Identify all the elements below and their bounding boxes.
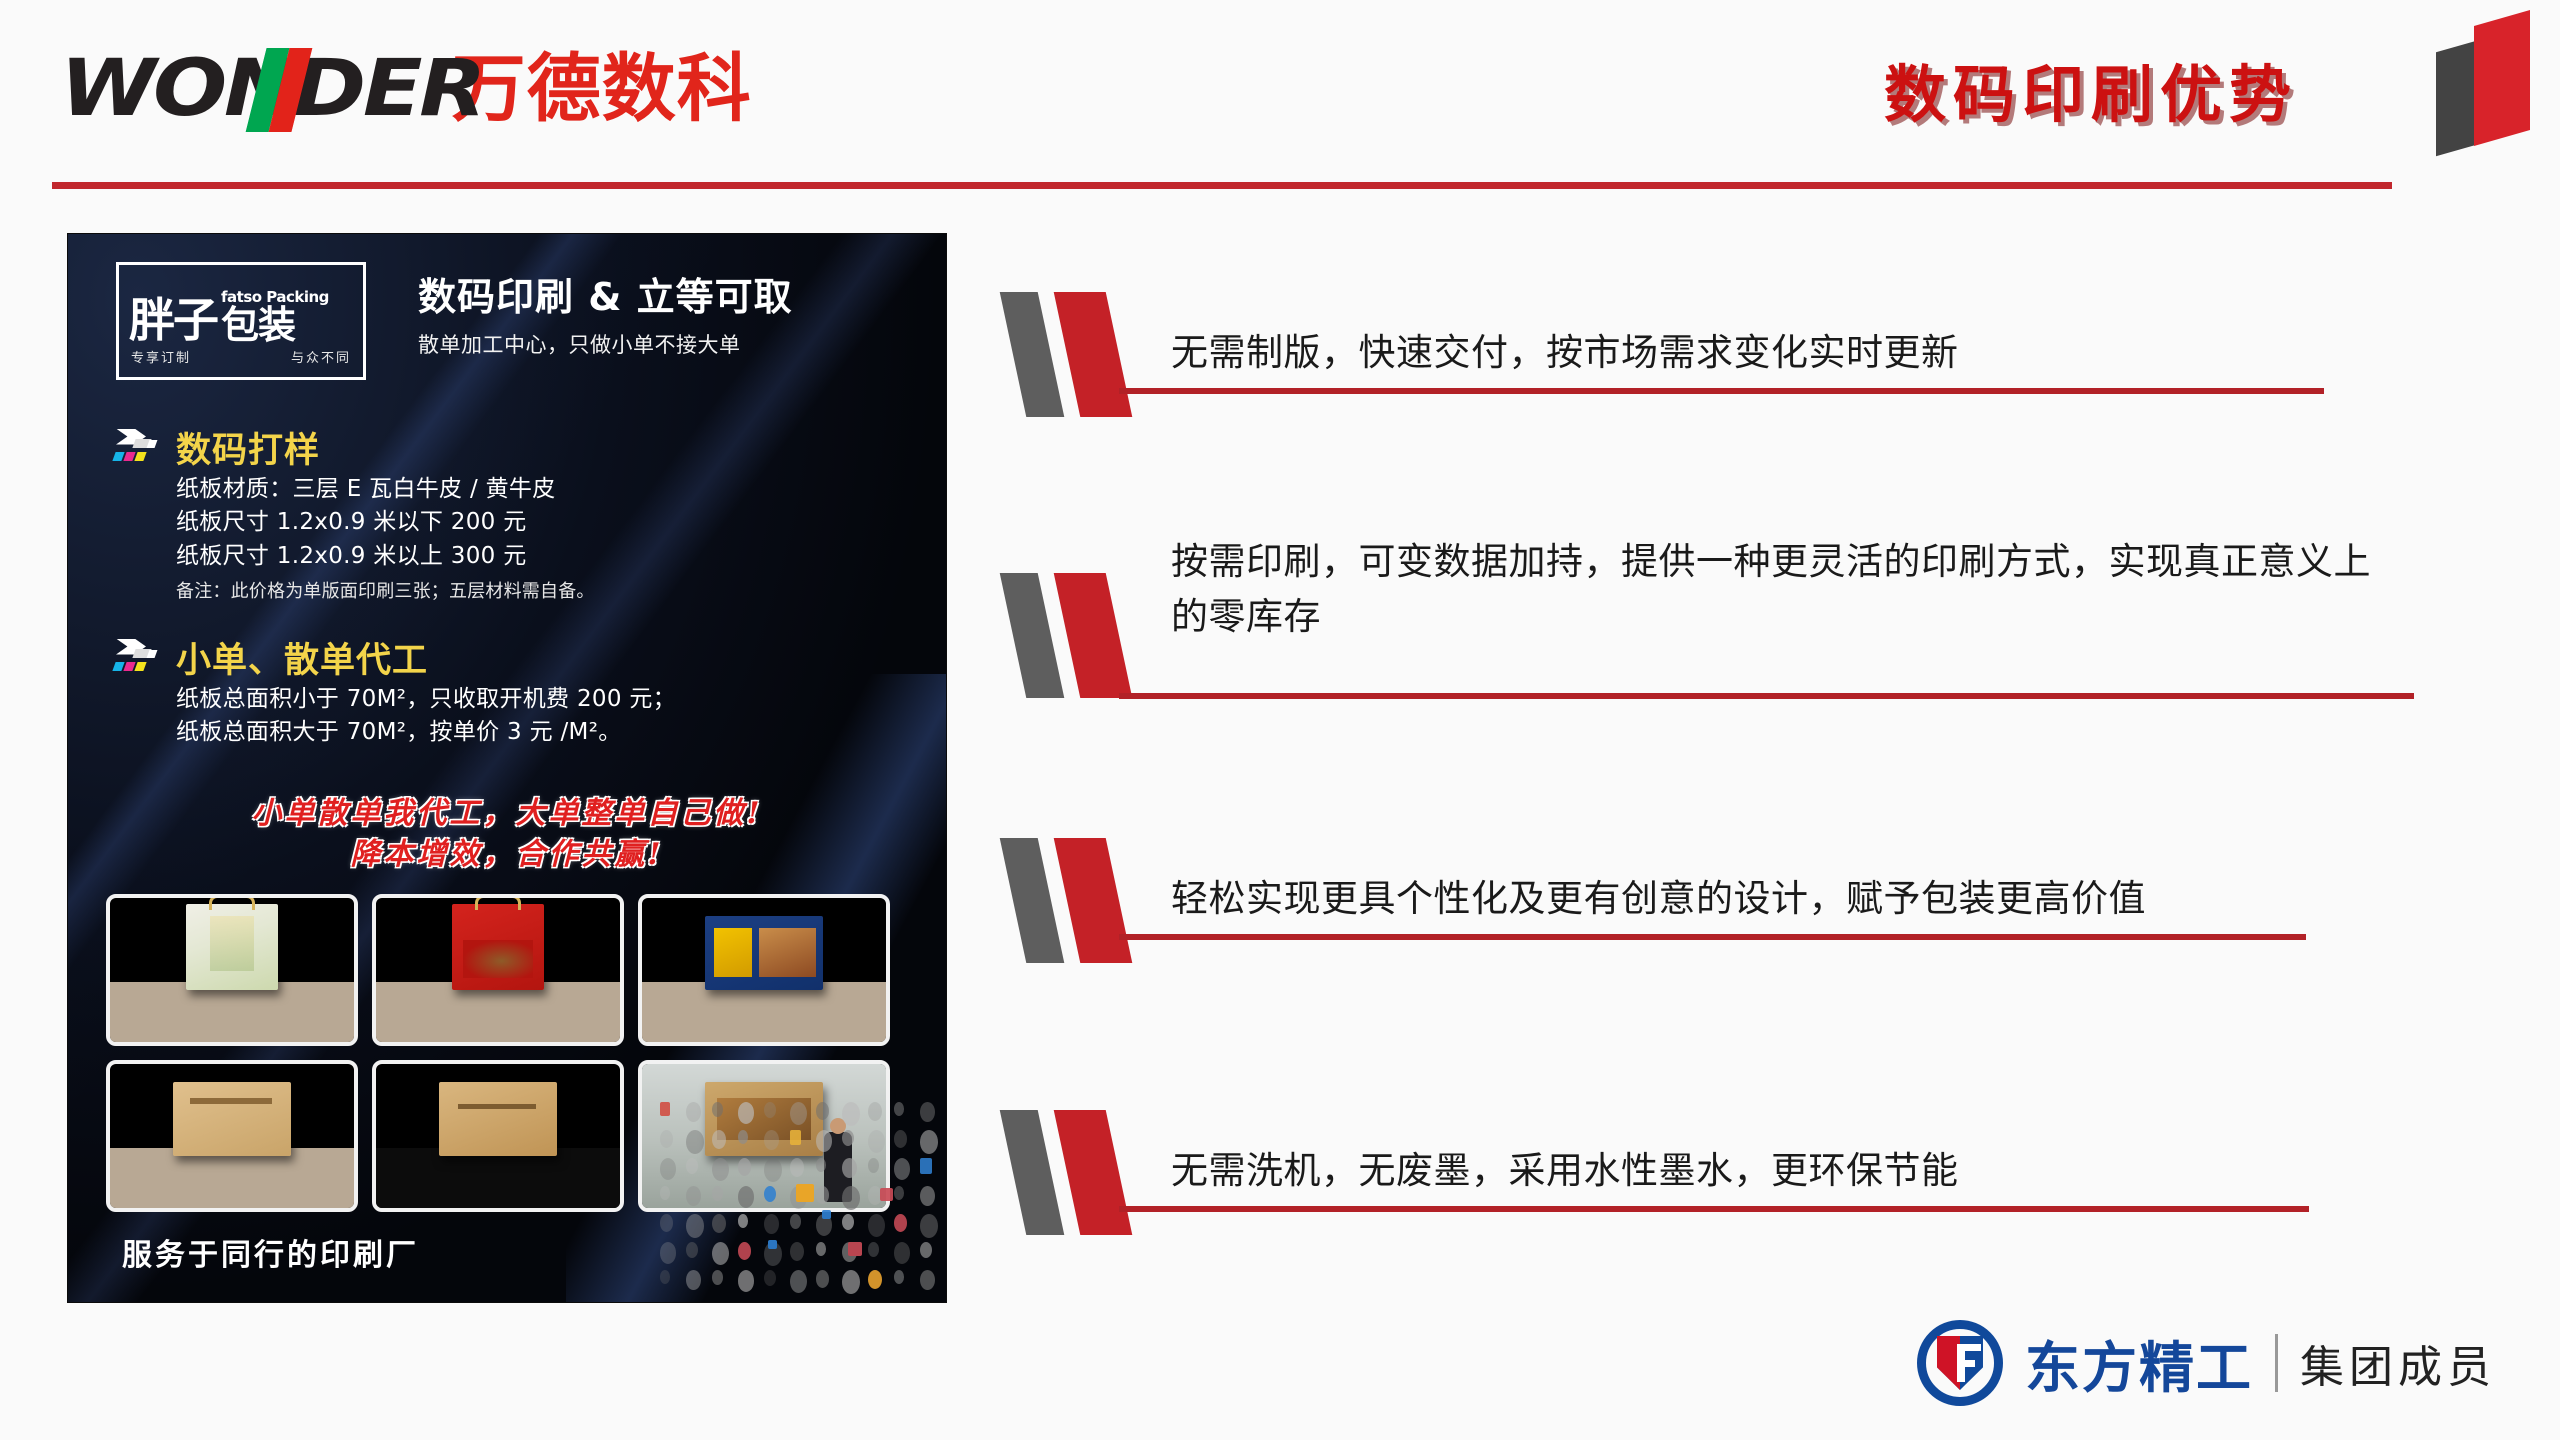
poster-logo-cn: 胖子	[129, 299, 217, 343]
poster-section-line: 纸板总面积大于 70M²，按单价 3 元 /M²。	[176, 716, 910, 749]
logo-divider	[2275, 1334, 2278, 1392]
group-company-name: 东方精工	[2025, 1323, 2253, 1403]
poster-section-line: 纸板材质：三层 E 瓦白牛皮 / 黄牛皮	[176, 473, 910, 506]
header-divider-rule	[52, 182, 2392, 189]
product-photo-red-gift	[372, 894, 624, 1046]
group-member-label: 集团成员	[2300, 1331, 2496, 1395]
bullet-text: 无需制版，快速交付，按市场需求变化实时更新	[1171, 326, 1959, 381]
poster-section-line: 纸板尺寸 1.2x0.9 米以上 300 元	[176, 540, 910, 573]
poster-logo-tag-right: 与众不同	[291, 347, 351, 366]
product-photo-classic-kraft	[372, 1060, 624, 1212]
poster-section-title: 数码打样	[176, 422, 320, 473]
poster-slogan-line: 降本增效，合作共赢!	[68, 835, 946, 876]
poster-subheadline: 散单加工中心，只做小单不接大单	[418, 329, 918, 359]
bullet-text: 轻松实现更具个性化及更有创意的设计，赋予包装更高价值	[1171, 872, 2146, 927]
advantage-bullet-4: 无需洗机，无废墨，采用水性墨水，更环保节能	[1005, 1092, 2405, 1227]
page-title: 数码印刷优势	[1884, 44, 2298, 134]
bullet-underline	[1119, 1206, 2309, 1212]
advantage-bullet-1: 无需制版，快速交付，按市场需求变化实时更新	[1005, 292, 2365, 422]
brand-logo: WONDER 万德数科	[60, 52, 752, 126]
poster-section-line: 纸板总面积小于 70M²，只收取开机费 200 元；	[176, 683, 910, 716]
poster-section-line: 纸板尺寸 1.2x0.9 米以下 200 元	[176, 506, 910, 539]
poster-section-title: 小单、散单代工	[176, 632, 428, 683]
poster-brand-logo: 胖子 fatso Packing 包装 专享订制 与众不同	[116, 262, 366, 380]
bullet-underline	[1119, 693, 2414, 699]
poster-headline-block: 数码印刷 & 立等可取 散单加工中心，只做小单不接大单	[418, 276, 918, 359]
page-header: WONDER 万德数科 数码印刷优势	[0, 0, 2560, 190]
promo-poster-image: 胖子 fatso Packing 包装 专享订制 与众不同 数码印刷 & 立等可…	[68, 234, 946, 1302]
poster-slogan: 小单散单我代工，大单整单自己做! 降本增效，合作共赢!	[68, 794, 946, 875]
bullet-text: 按需印刷，可变数据加持，提供一种更灵活的印刷方式，实现真正意义上的零库存	[1171, 535, 2386, 645]
poster-headline: 数码印刷 & 立等可取	[418, 276, 918, 319]
bullet-marker-icon	[1005, 292, 1170, 417]
poster-logo-cn2: 包装	[221, 307, 329, 343]
bullet-marker-icon	[1005, 838, 1170, 963]
bullet-text: 无需洗机，无废墨，采用水性墨水，更环保节能	[1171, 1144, 1959, 1199]
poster-section-small-orders: 小单、散单代工 纸板总面积小于 70M²，只收取开机费 200 元； 纸板总面积…	[110, 632, 910, 750]
wonder-wordmark: WONDER	[60, 54, 438, 124]
chevron-arrow-icon	[110, 637, 162, 679]
product-photo-honey	[106, 894, 358, 1046]
dongfang-shield-icon	[1917, 1320, 2003, 1406]
poster-logo-tag-left: 专享订制	[131, 347, 191, 366]
advantage-bullet-2: 按需印刷，可变数据加持，提供一种更灵活的印刷方式，实现真正意义上的零库存	[1005, 535, 2435, 705]
poster-slogan-line: 小单散单我代工，大单整单自己做!	[68, 794, 946, 835]
brand-cn-text: 万德数科	[452, 52, 752, 126]
corner-ribbon-icon	[2436, 8, 2536, 158]
product-photo-kraft-carton	[106, 1060, 358, 1212]
poster-footer-text: 服务于同行的印刷厂	[122, 1230, 419, 1274]
bullet-underline	[1119, 934, 2306, 940]
bullet-marker-icon	[1005, 1110, 1170, 1235]
advantage-bullet-3: 轻松实现更具个性化及更有创意的设计，赋予包装更高价值	[1005, 838, 2405, 968]
product-photo-beef-pie	[638, 894, 890, 1046]
group-member-logo: 东方精工 集团成员	[1917, 1320, 2496, 1406]
chevron-arrow-icon	[110, 427, 162, 469]
poster-section-digital-proofing: 数码打样 纸板材质：三层 E 瓦白牛皮 / 黄牛皮 纸板尺寸 1.2x0.9 米…	[110, 422, 910, 603]
bullet-underline	[1119, 388, 2324, 394]
bullet-marker-icon	[1005, 573, 1170, 698]
poster-section-note: 备注：此价格为单版面印刷三张；五层材料需自备。	[176, 577, 910, 603]
poster-dot-pattern	[646, 1092, 946, 1302]
